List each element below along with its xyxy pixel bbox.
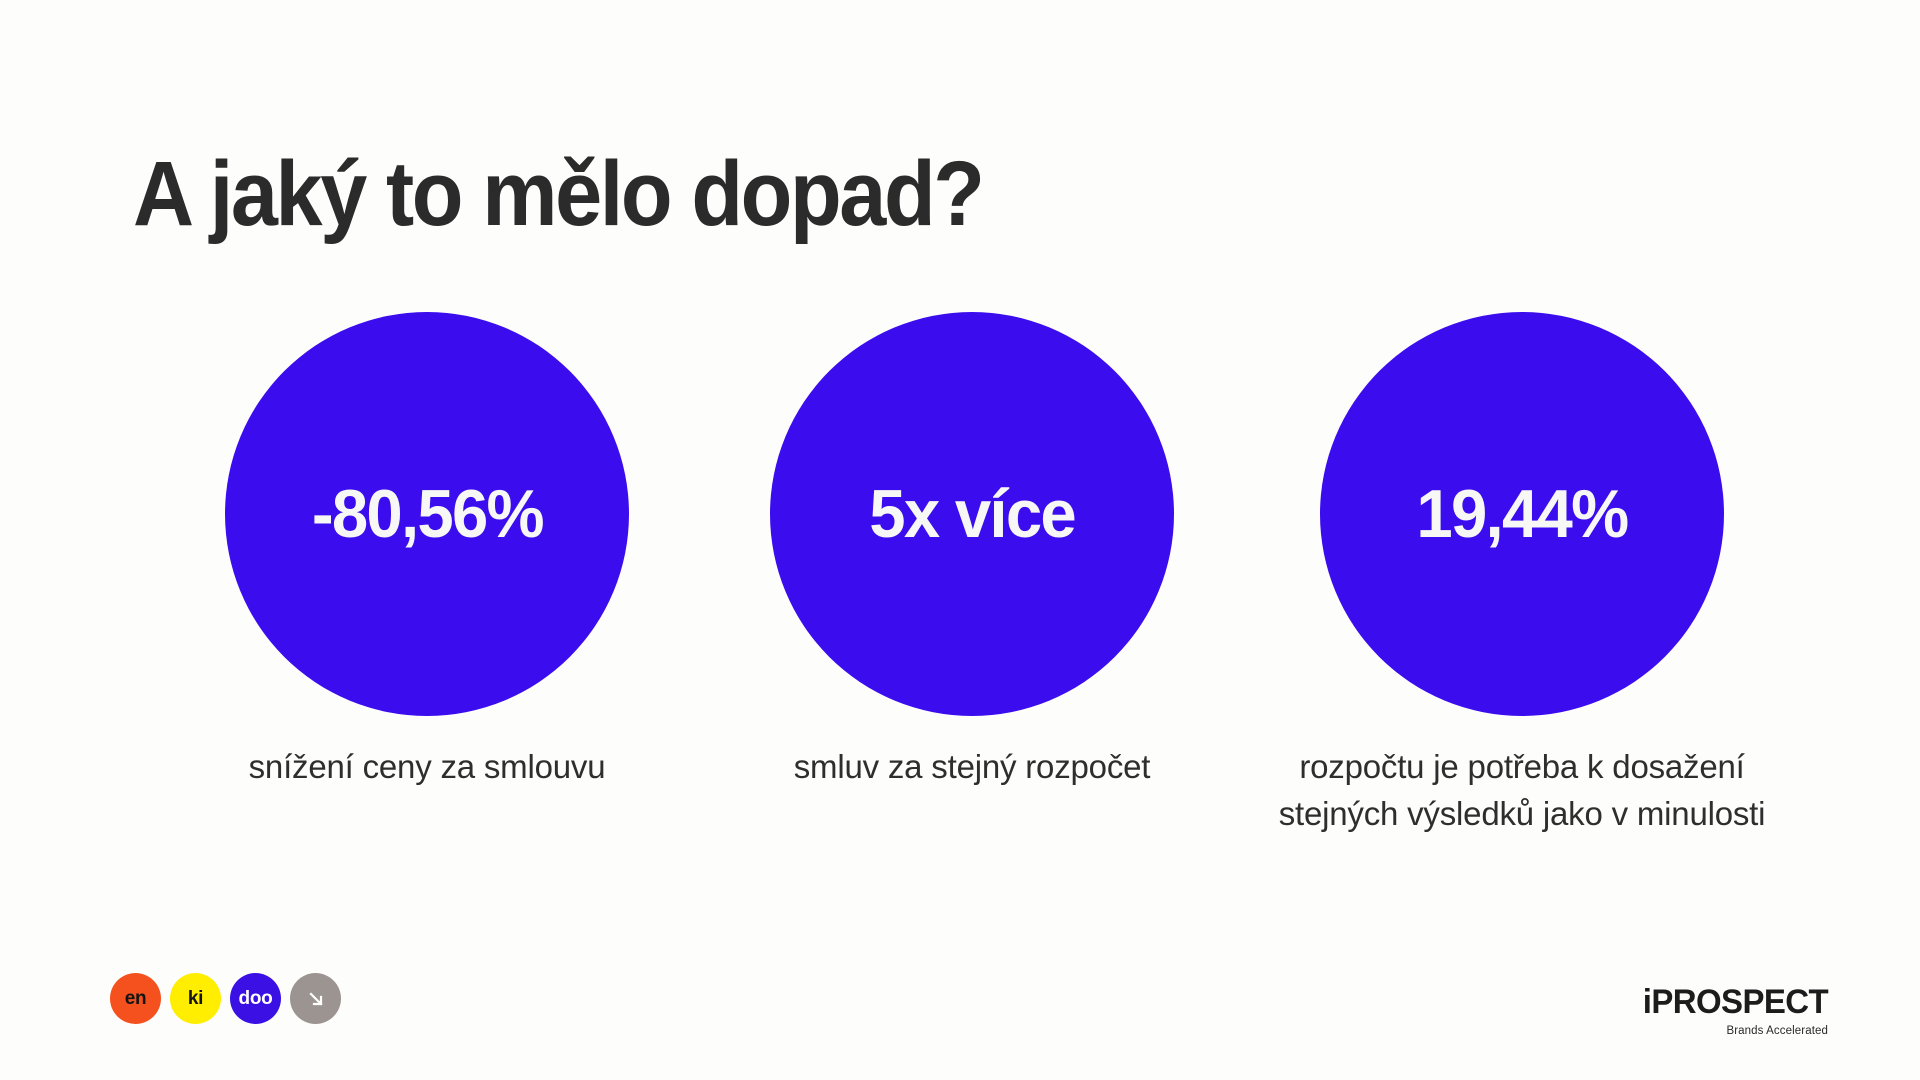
iprospect-tagline: Brands Accelerated [1637,1026,1828,1038]
slide-canvas: A jaký to mělo dopad? -80,56% snížení ce… [0,0,1920,1080]
page-title: A jaký to mělo dopad? [133,146,983,243]
stat-caption-2: rozpočtu je potřeba k dosažení stejných … [1272,744,1772,838]
stat-caption-0: snížení ceny za smlouvu [197,744,657,791]
brand-dot-en-label: en [125,989,147,1008]
stat-value-0: -80,56% [311,480,542,548]
arrow-down-right-icon [304,987,328,1011]
brand-dot-ki-label: ki [188,989,203,1008]
stat-block-0: -80,56% snížení ceny za smlouvu [167,312,687,791]
iprospect-logo: iPROSPECT Brands Accelerated [1637,985,1828,1038]
stat-bubble-1: 5x více [770,312,1174,716]
brand-dots-group: en ki doo [110,973,341,1024]
stat-block-1: 5x více smluv za stejný rozpočet [712,312,1232,791]
brand-dot-en: en [110,973,161,1024]
stat-value-1: 5x více [869,480,1075,548]
brand-dot-arrow [290,973,341,1024]
iprospect-wordmark: iPROSPECT [1643,985,1828,1019]
stat-bubble-0: -80,56% [225,312,629,716]
brand-dot-ki: ki [170,973,221,1024]
stat-bubble-2: 19,44% [1320,312,1724,716]
stat-block-2: 19,44% rozpočtu je potřeba k dosažení st… [1262,312,1782,838]
brand-dot-doo: doo [230,973,281,1024]
brand-dot-doo-label: doo [239,989,273,1008]
stat-value-2: 19,44% [1416,480,1627,548]
stat-caption-1: smluv za stejný rozpočet [742,744,1202,791]
